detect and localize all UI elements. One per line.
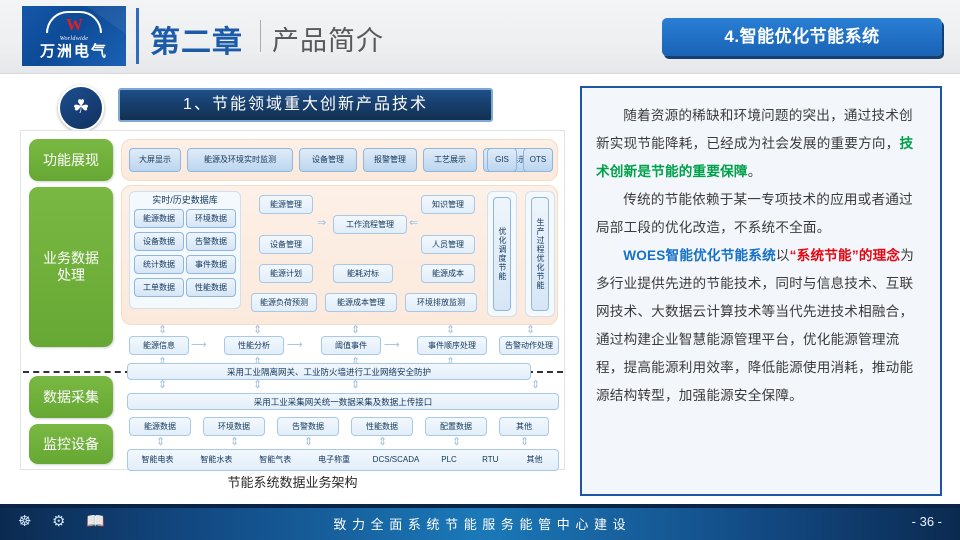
arrow-up-flow-3-icon: ⇕ <box>446 326 455 335</box>
paragraph-1: 随着资源的稀缺和环境问题的突出，通过技术创新实现节能降耗，已经成为社会发展的重要… <box>596 102 926 186</box>
flow-box-0[interactable]: 能源信息 <box>129 336 189 355</box>
page-number: - 36 - <box>912 514 942 529</box>
db-item-4[interactable]: 统计数据 <box>134 255 184 274</box>
device-2[interactable]: 智能气表 <box>246 455 305 465</box>
arrow-dev-2-icon: ⇕ <box>304 438 313 447</box>
flow-box-1[interactable]: 性能分析 <box>224 336 284 355</box>
mgmt-emission[interactable]: 环境排放监测 <box>405 293 477 312</box>
security-gateway-bar[interactable]: 采用工业隔离网关、工业防火墙进行工业网络安全防护 <box>127 363 531 380</box>
mgmt-cost[interactable]: 能源成本 <box>421 264 475 283</box>
arrow-dev-1-icon: ⇕ <box>230 438 239 447</box>
paragraph-2: 传统的节能依赖于某一专项技术的应用或者通过局部工段的优化改造，不系统不全面。 <box>596 186 926 242</box>
db-item-6[interactable]: 工单数据 <box>134 278 184 297</box>
logo-letter: W <box>48 16 100 33</box>
data-box-2[interactable]: 告警数据 <box>277 417 339 436</box>
func-box-0[interactable]: 大屏显示 <box>129 148 181 172</box>
architecture-diagram: 功能展现 业务数据处理 数据采集 监控设备 大屏显示 能源及环境实时监测 设备管… <box>20 130 565 470</box>
header-title-separator <box>260 20 261 52</box>
data-box-5[interactable]: 其他 <box>499 417 549 436</box>
zone-divider-left <box>23 371 131 373</box>
p1-text-b: 。 <box>748 164 762 179</box>
mgmt-plan[interactable]: 能源计划 <box>259 264 313 283</box>
footer-slogan: 致 力 全 面 系 统 节 能 服 务 能 管 中 心 建 设 <box>0 514 960 533</box>
device-1[interactable]: 智能水表 <box>187 455 246 465</box>
arrow-sec-gw-2-icon: ⇕ <box>351 381 360 390</box>
paragraph-3: WOES智能优化节能系统以“系统节能”的理念为多行业提供先进的节能技术，同时与信… <box>596 242 926 410</box>
company-logo: W Worldwide 万洲电气 <box>22 6 126 66</box>
diagram-caption: 节能系统数据业务架构 <box>20 472 565 491</box>
mgmt-equipment[interactable]: 设备管理 <box>259 235 313 254</box>
flow-box-3[interactable]: 事件顺序处理 <box>417 336 487 355</box>
func-box-3[interactable]: 报警管理 <box>363 148 417 172</box>
zone-divider-right <box>527 371 563 373</box>
db-item-2[interactable]: 设备数据 <box>134 232 184 251</box>
device-6[interactable]: RTU <box>470 455 511 465</box>
func-box-4[interactable]: 工艺展示 <box>423 148 477 172</box>
p3-highlight-blue: WOES智能优化节能系统 <box>623 248 776 263</box>
db-item-5[interactable]: 事件数据 <box>186 255 236 274</box>
flow-box-alarm[interactable]: 告警动作处理 <box>499 336 559 355</box>
arrow-flow-1-2-icon: ⟶ <box>287 341 303 349</box>
data-box-1[interactable]: 环境数据 <box>203 417 265 436</box>
db-item-1[interactable]: 环境数据 <box>186 209 236 228</box>
hand-energy-icon: ☘ <box>60 87 102 129</box>
vertical-box-dispatch[interactable]: 优化调度节能 <box>493 197 511 311</box>
arrow-flow-0-1-icon: ⟶ <box>191 341 207 349</box>
db-item-0[interactable]: 能源数据 <box>134 209 184 228</box>
mgmt-benchmark[interactable]: 能耗对标 <box>333 264 393 283</box>
logo-emblem: W Worldwide <box>22 11 126 33</box>
flow-box-2[interactable]: 阈值事件 <box>321 336 381 355</box>
mgmt-energy[interactable]: 能源管理 <box>259 195 313 214</box>
p3-text-b: 为多行业提供先进的节能技术，同时与信息技术、互联网技术、大数据云计算技术等当代先… <box>596 248 914 403</box>
mgmt-knowledge[interactable]: 知识管理 <box>421 195 475 214</box>
arrow-up-flow-4-icon: ⇕ <box>526 326 535 335</box>
db-item-3[interactable]: 告警数据 <box>186 232 236 251</box>
data-box-3[interactable]: 性能数据 <box>351 417 413 436</box>
device-bar: 智能电表 智能水表 智能气表 电子称重 DCS/SCADA PLC RTU 其他 <box>127 449 559 471</box>
topic-banner: 4.智能优化节能系统 <box>662 18 942 56</box>
arrow-dev-4-icon: ⇕ <box>452 438 461 447</box>
layer-label-devices: 监控设备 <box>29 424 113 464</box>
mgmt-load-forecast[interactable]: 能源负荷预测 <box>251 293 317 312</box>
mgmt-workflow[interactable]: 工作流程管理 <box>333 215 407 234</box>
device-7[interactable]: 其他 <box>511 455 558 465</box>
arrow-up-flow-0-icon: ⇕ <box>158 326 167 335</box>
collection-gateway-bar[interactable]: 采用工业采集网关统一数据采集及数据上传接口 <box>127 393 559 410</box>
device-4[interactable]: DCS/SCADA <box>364 455 429 465</box>
logo-company-name: 万洲电气 <box>22 40 126 61</box>
data-box-4[interactable]: 配置数据 <box>425 417 487 436</box>
p1-text-a: 随着资源的稀缺和环境问题的突出，通过技术创新实现节能降耗，已经成为社会发展的重要… <box>596 108 913 151</box>
func-box-6[interactable]: GIS <box>487 148 517 172</box>
database-title: 实时/历史数据库 <box>129 193 241 207</box>
mgmt-cost-manage[interactable]: 能源成本管理 <box>325 293 397 312</box>
section-title-label: 1、节能领域重大创新产品技术 <box>120 90 491 120</box>
func-box-2[interactable]: 设备管理 <box>299 148 357 172</box>
device-3[interactable]: 电子称重 <box>305 455 364 465</box>
topic-banner-label: 4.智能优化节能系统 <box>662 18 942 56</box>
arrow-up-flow-2-icon: ⇕ <box>351 326 360 335</box>
header-accent-bar <box>136 8 139 64</box>
db-item-7[interactable]: 性能数据 <box>186 278 236 297</box>
data-box-0[interactable]: 能源数据 <box>129 417 191 436</box>
arrow-right-to-center-icon: ⇐ <box>409 219 418 227</box>
header-divider <box>0 73 960 74</box>
p3-highlight-red: “系统节能”的理念 <box>790 248 901 263</box>
layer-label-business: 业务数据处理 <box>29 187 113 347</box>
description-panel: 随着资源的稀缺和环境问题的突出，通过技术创新实现节能降耗，已经成为社会发展的重要… <box>580 86 942 496</box>
p3-text-a: 以 <box>776 248 790 263</box>
mgmt-personnel[interactable]: 人员管理 <box>421 235 475 254</box>
logo-arc-icon: W <box>46 11 102 33</box>
layer-label-function: 功能展现 <box>29 139 113 181</box>
arrow-dev-3-icon: ⇕ <box>378 438 387 447</box>
section-title-bar: 1、节能领域重大创新产品技术 <box>118 88 493 122</box>
device-5[interactable]: PLC <box>428 455 469 465</box>
chapter-subtitle: 产品简介 <box>272 19 384 58</box>
arrow-flow-2-3-icon: ⟶ <box>384 341 400 349</box>
arrow-dev-0-icon: ⇕ <box>156 438 165 447</box>
arrow-sec-gw-3-icon: ⇕ <box>531 381 540 390</box>
layer-label-collection: 数据采集 <box>29 376 113 418</box>
arrow-dev-5-icon: ⇕ <box>520 438 529 447</box>
arrow-left-to-center-icon: ⇒ <box>317 219 326 227</box>
arrow-sec-gw-0-icon: ⇕ <box>158 381 167 390</box>
func-box-1[interactable]: 能源及环境实时监测 <box>187 148 293 172</box>
vertical-box-process[interactable]: 生产过程优化节能 <box>531 197 549 311</box>
chapter-title: 第二章 <box>150 17 243 61</box>
func-box-7[interactable]: OTS <box>523 148 553 172</box>
slide-root: W Worldwide 万洲电气 第二章 产品简介 4.智能优化节能系统 ☘ 1… <box>0 0 960 540</box>
arrow-up-flow-1-icon: ⇕ <box>253 326 262 335</box>
arrow-sec-gw-1-icon: ⇕ <box>253 381 262 390</box>
device-0[interactable]: 智能电表 <box>128 455 187 465</box>
section-badge: ☘ <box>58 85 104 131</box>
